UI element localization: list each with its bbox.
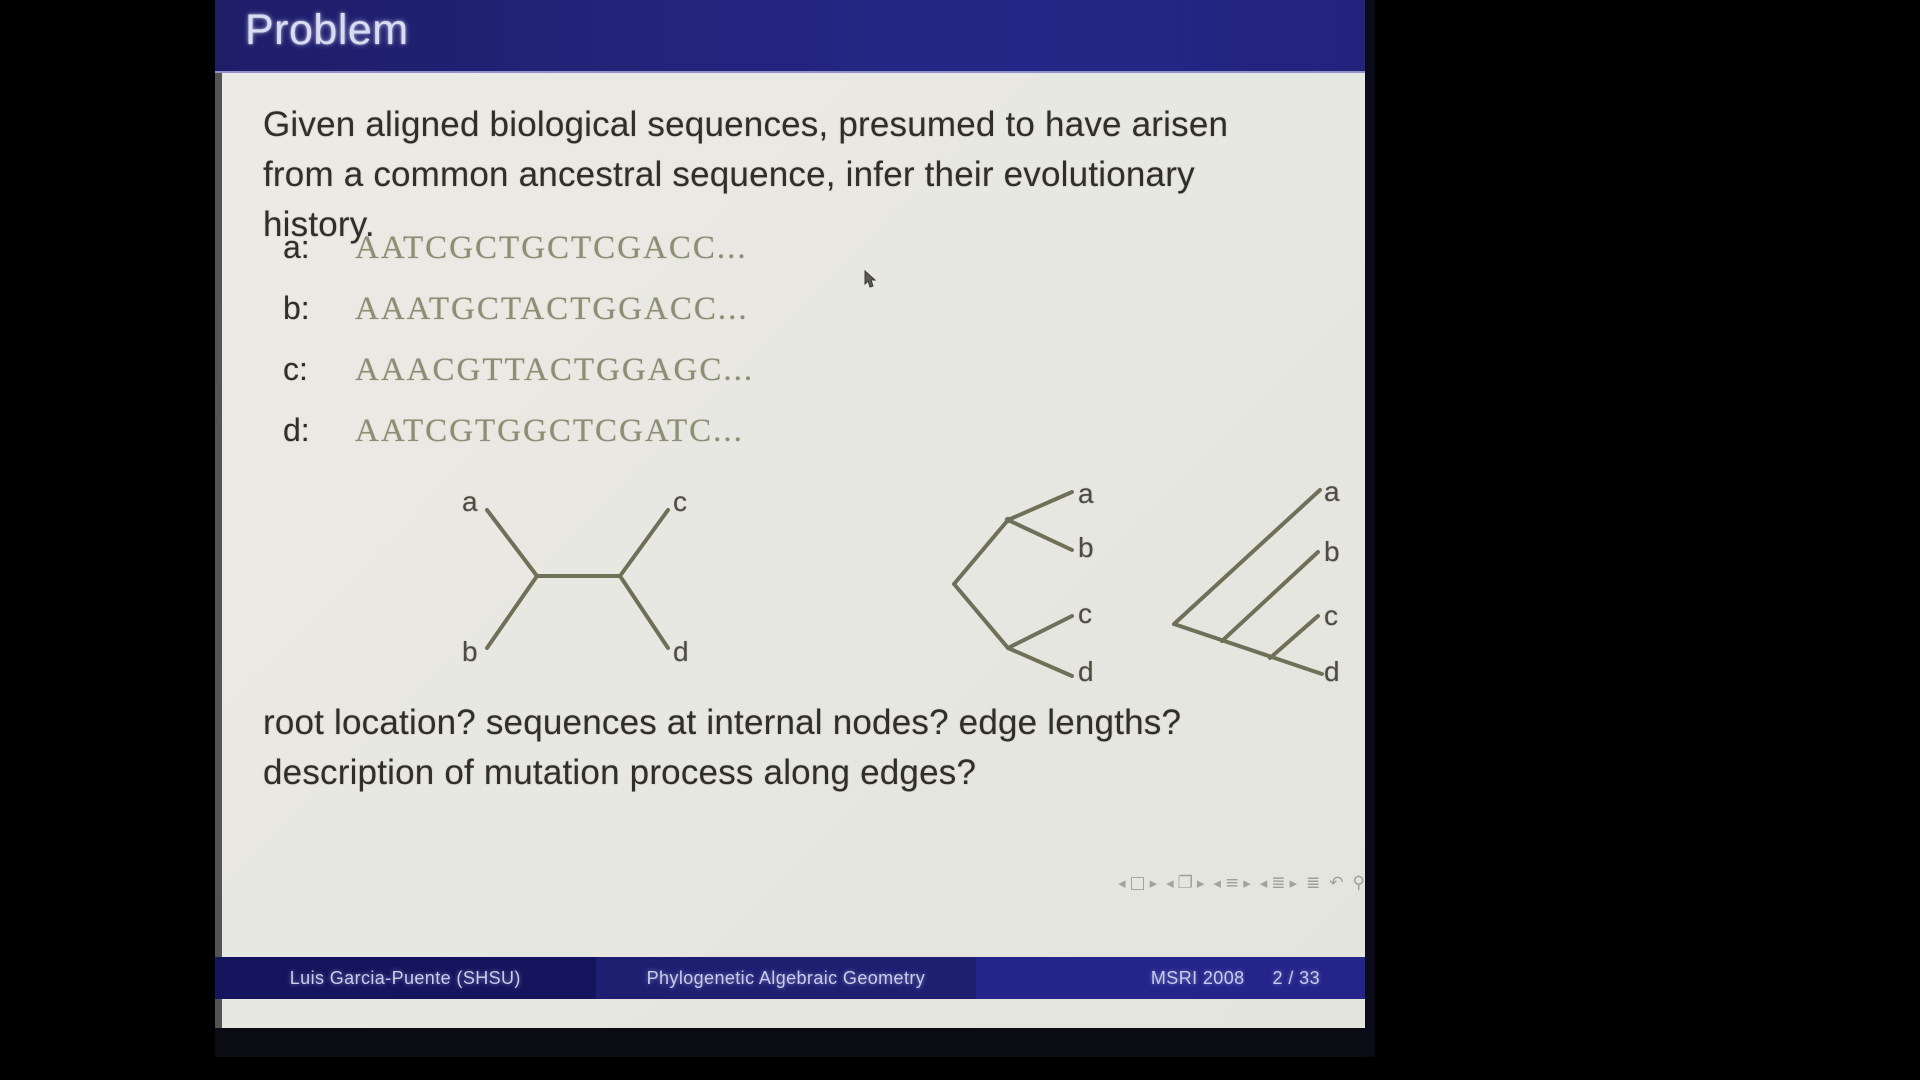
sequence-label: d:	[283, 412, 355, 449]
rooted-balanced-tree-diagram: a b c d	[950, 488, 1110, 683]
sequence-value: AAATGCTACTGGACC...	[355, 291, 749, 328]
tree-leaf-label-d: d	[1078, 656, 1094, 688]
tree-leaf-label-d: d	[673, 636, 689, 668]
frame-icon[interactable]: ❐	[1178, 873, 1193, 893]
presentation-slide: Problem Given aligned biological sequenc…	[215, 0, 1375, 1057]
list-item: a: AATCGCTGCTCGACC...	[283, 229, 754, 290]
footer-venue: MSRI 2008	[976, 957, 1244, 999]
tree-leaf-label-c: c	[1078, 598, 1092, 630]
unrooted-tree-svg	[465, 488, 695, 673]
sequence-label: a:	[283, 229, 355, 266]
slide-body: Given aligned biological sequences, pres…	[215, 73, 1375, 1028]
sequence-label: c:	[283, 351, 355, 388]
tree-leaf-label-d: d	[1324, 656, 1340, 688]
next-subsection-icon[interactable]: ▸	[1243, 874, 1251, 892]
rooted-caterpillar-tree-diagram: a b c d	[1170, 488, 1340, 683]
next-slide-icon[interactable]: ▸	[1150, 874, 1158, 892]
sequence-value: AAACGTTACTGGAGC...	[355, 352, 754, 389]
section-icon[interactable]: ≣	[1271, 873, 1285, 893]
nav-group-frame[interactable]: ◂ ❐ ▸	[1166, 873, 1204, 893]
nav-group-subsection[interactable]: ◂ ≡ ▸	[1213, 873, 1250, 893]
footer-author: Luis Garcia-Puente (SHSU)	[215, 957, 596, 999]
page-title: Problem	[245, 6, 409, 55]
sequence-value: AATCGCTGCTCGACC...	[355, 230, 748, 267]
mouse-cursor	[860, 268, 886, 294]
unrooted-tree-diagram: a b c d	[465, 488, 695, 678]
next-frame-icon[interactable]: ▸	[1197, 874, 1205, 892]
nav-group-section[interactable]: ◂ ≣ ▸	[1260, 873, 1297, 893]
prev-subsection-icon[interactable]: ◂	[1213, 874, 1221, 892]
prev-section-icon[interactable]: ◂	[1260, 874, 1268, 892]
intro-paragraph: Given aligned biological sequences, pres…	[263, 100, 1288, 250]
sequence-label: b:	[283, 290, 355, 327]
list-item: c: AAACGTTACTGGAGC...	[283, 351, 754, 412]
prev-slide-icon[interactable]: ◂	[1118, 874, 1126, 892]
rooted-balanced-tree-svg	[950, 488, 1110, 678]
question-paragraph: root location? sequences at internal nod…	[263, 698, 1338, 798]
nav-group-slide[interactable]: ◂ □ ▸	[1118, 873, 1157, 893]
subsection-icon[interactable]: ≡	[1225, 873, 1239, 893]
tree-leaf-label-b: b	[462, 636, 478, 668]
tree-leaf-label-c: c	[673, 486, 687, 518]
slide-title-bar: Problem	[215, 0, 1375, 73]
footer-page-number: 2 / 33	[1245, 957, 1375, 999]
back-icon[interactable]: ↶	[1329, 873, 1343, 893]
tree-leaf-label-a: a	[462, 486, 478, 518]
frame-border-left	[0, 0, 215, 1080]
tree-leaf-label-b: b	[1324, 536, 1340, 568]
tree-leaf-label-a: a	[1324, 476, 1340, 508]
slide-icon[interactable]: □	[1130, 873, 1146, 893]
list-item: d: AATCGTGGCTCGATC...	[283, 412, 754, 473]
document-icon[interactable]: ≣	[1306, 873, 1320, 893]
prev-frame-icon[interactable]: ◂	[1166, 874, 1174, 892]
frame-border-bottom	[0, 1057, 1920, 1080]
tree-leaf-label-c: c	[1324, 600, 1338, 632]
tree-leaf-label-b: b	[1078, 532, 1094, 564]
sequence-alignment-list: a: AATCGCTGCTCGACC... b: AAATGCTACTGGACC…	[283, 229, 754, 473]
beamer-navigation-bar[interactable]: ◂ □ ▸ ◂ ❐ ▸ ◂ ≡ ▸ ◂ ≣ ▸	[1118, 873, 1365, 893]
list-item: b: AAATGCTACTGGACC...	[283, 290, 754, 351]
frame-border-inner-right	[1365, 0, 1375, 1080]
sequence-value: AATCGTGGCTCGATC...	[355, 413, 744, 450]
slide-footer: Luis Garcia-Puente (SHSU) Phylogenetic A…	[215, 957, 1375, 999]
search-icon[interactable]: ⚲	[1353, 873, 1365, 893]
phylogenetic-tree-figures: a b c d a	[465, 488, 1345, 688]
video-frame: Problem Given aligned biological sequenc…	[0, 0, 1920, 1080]
frame-border-right	[1375, 0, 1920, 1080]
rooted-caterpillar-tree-svg	[1170, 488, 1340, 678]
footer-talk-title: Phylogenetic Algebraic Geometry	[596, 957, 977, 999]
tree-leaf-label-a: a	[1078, 478, 1094, 510]
next-section-icon[interactable]: ▸	[1290, 874, 1298, 892]
